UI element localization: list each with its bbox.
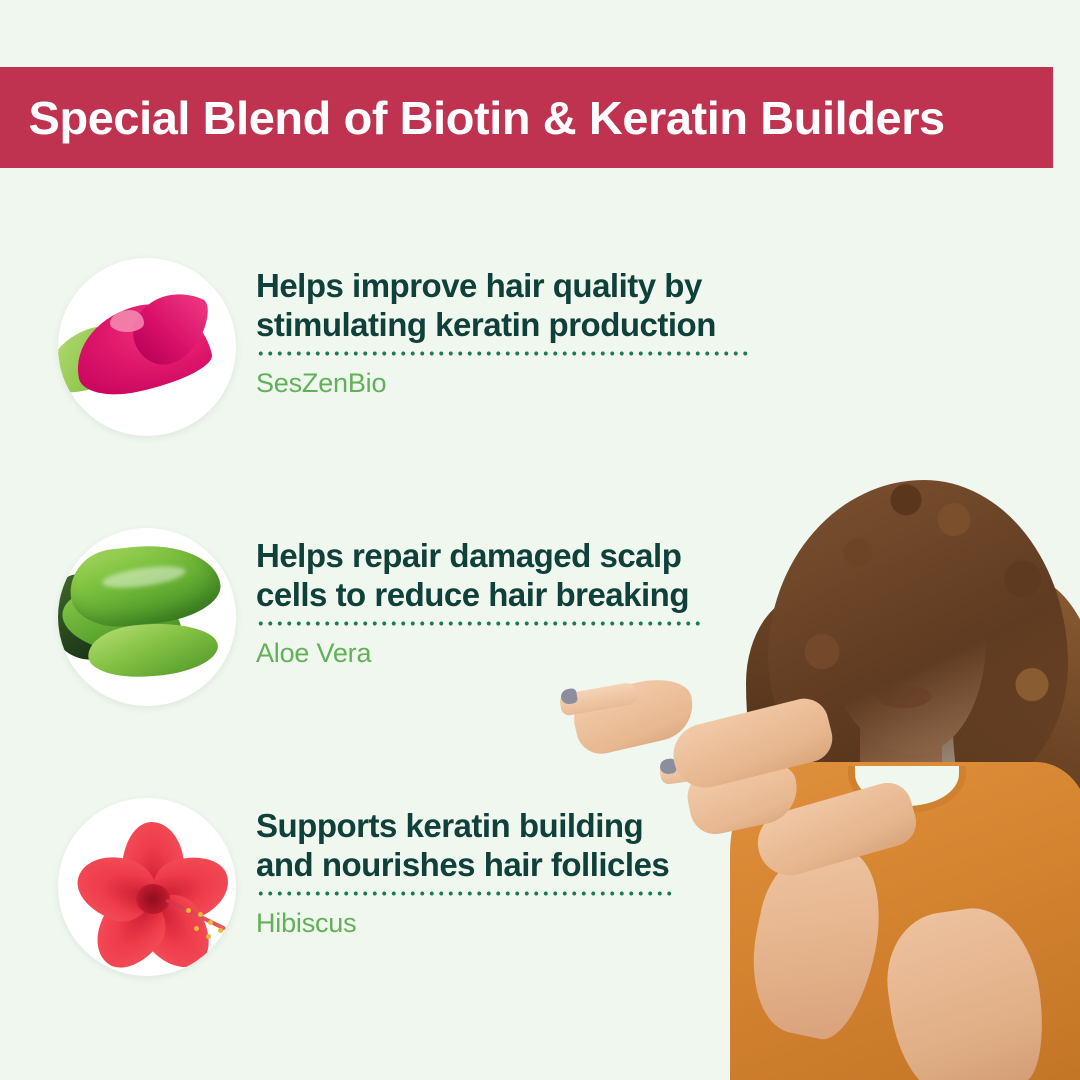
feature-row: Helps improve hair quality by stimulatin…: [0, 258, 760, 438]
product-benefits-poster: Special Blend of Biotin & Keratin Builde…: [0, 0, 1080, 1080]
hibiscus-flower-icon: [58, 798, 236, 976]
model-photo: [560, 480, 1080, 1080]
aloe-vera-icon: [58, 528, 236, 706]
dotted-divider: [256, 350, 752, 357]
rose-petal-icon: [58, 258, 236, 436]
feature-headline: Helps improve hair quality by stimulatin…: [256, 266, 756, 344]
ingredient-thumbnail: [58, 258, 236, 436]
feature-text-block: Helps improve hair quality by stimulatin…: [256, 266, 756, 399]
ingredient-thumbnail: [58, 528, 236, 706]
ingredient-thumbnail: [58, 798, 236, 976]
ingredient-name: SesZenBio: [256, 368, 756, 399]
